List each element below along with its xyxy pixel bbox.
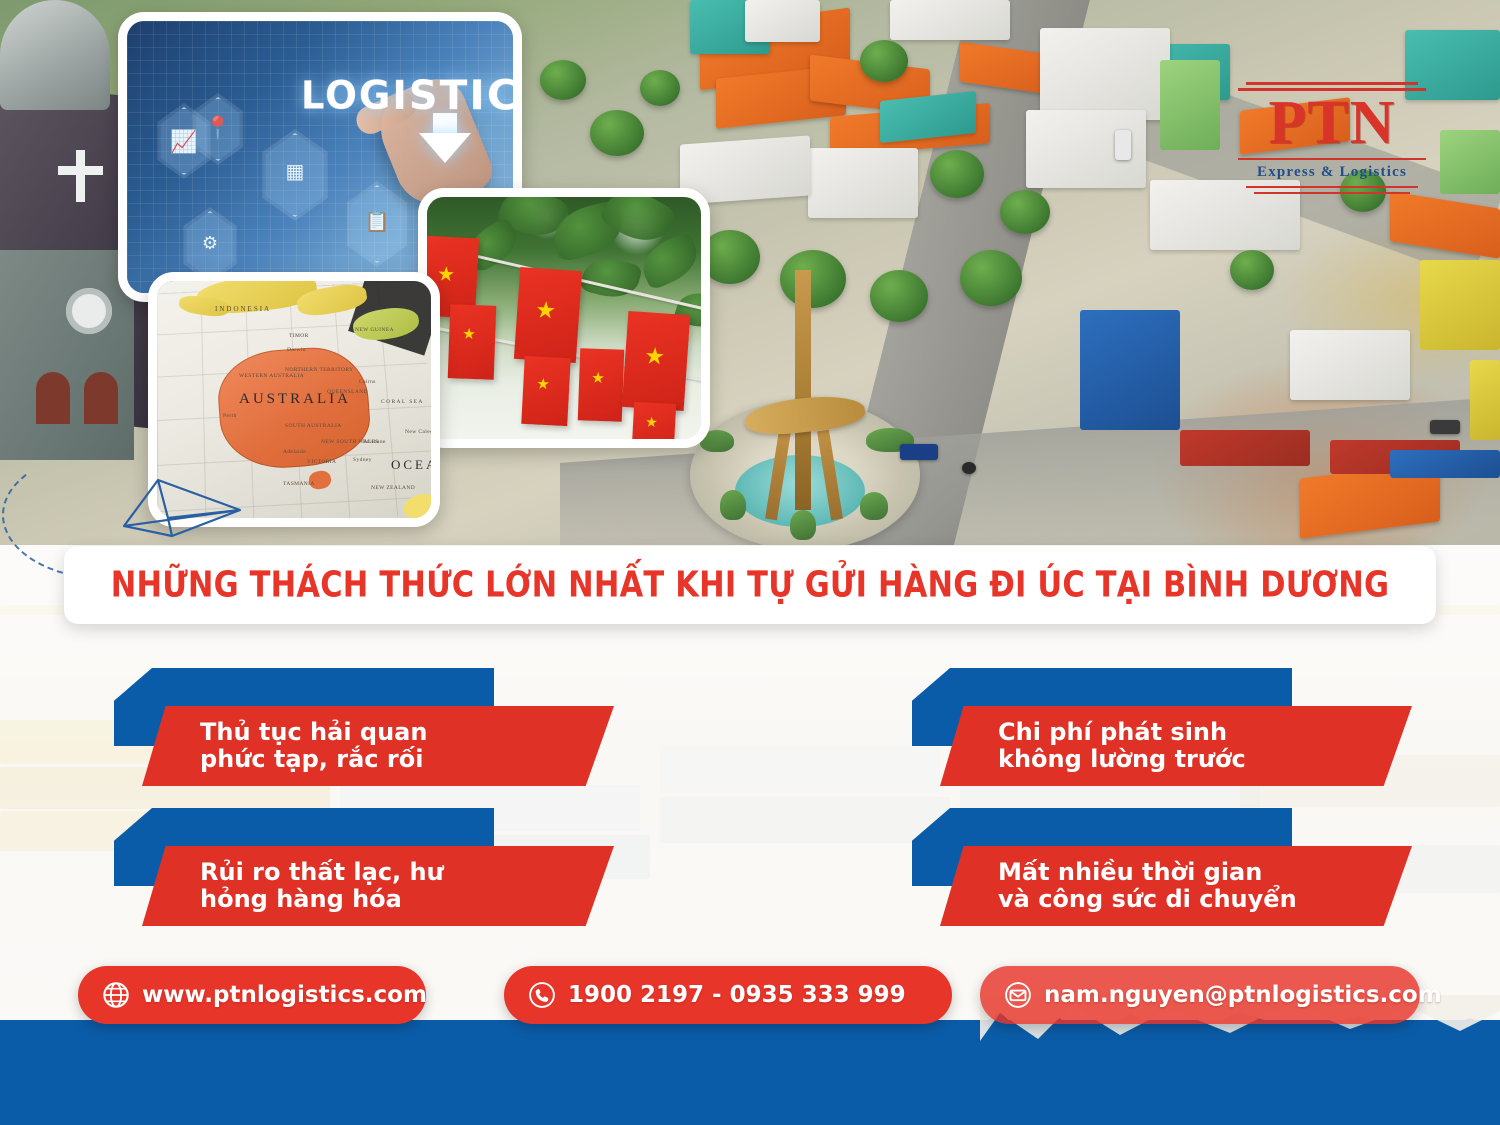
map-label-cairns: Cairns <box>359 379 376 385</box>
contact-email-pill[interactable]: nam.nguyen@ptnlogistics.com <box>980 966 1420 1024</box>
ptn-logo: PTN Express & Logistics <box>1232 78 1432 200</box>
tree <box>860 40 908 82</box>
globe-icon <box>102 981 130 1009</box>
tree <box>780 250 846 308</box>
shrub <box>790 510 816 540</box>
logo-rule-bottom <box>1254 192 1410 194</box>
tree <box>930 150 984 198</box>
banner-red-shape: Chi phí phát sinh không lường trước <box>940 706 1412 786</box>
map-label-darwin: Darwin <box>287 347 306 353</box>
challenge-label: Mất nhiều thời gian và công sức di chuyể… <box>998 859 1297 914</box>
map-label-perth: Perth <box>223 413 237 419</box>
tree <box>590 110 644 156</box>
building-sign <box>1180 430 1310 466</box>
title-bar: NHỮNG THÁCH THỨC LỚN NHẤT KHI TỰ GỬI HÀN… <box>64 546 1436 624</box>
map-label-brisbane: Brisbane <box>363 439 386 445</box>
building-roof <box>1290 330 1410 400</box>
tree <box>1000 190 1050 234</box>
building-roof <box>1040 28 1170 120</box>
logo-rule-top <box>1246 82 1418 85</box>
logo-wordmark: PTN <box>1232 92 1432 154</box>
envelope-icon <box>1004 981 1032 1009</box>
vietnam-flag: ★ <box>521 356 570 426</box>
map-label-indonesia: INDONESIA <box>215 305 271 313</box>
challenge-label: Chi phí phát sinh không lường trước <box>998 719 1246 774</box>
banner-red-shape: Rủi ro thất lạc, hư hỏng hàng hóa <box>142 846 614 926</box>
page-title: NHỮNG THÁCH THỨC LỚN NHẤT KHI TỰ GỬI HÀN… <box>111 564 1389 605</box>
map-label-adelaide: Adelaide <box>283 449 306 455</box>
map-label-png: NEW GUINEA <box>355 327 394 333</box>
car <box>1430 420 1460 434</box>
map-label-qld: QUEENSLAND <box>327 389 368 395</box>
contact-phone-pill[interactable]: 1900 2197 - 0935 333 999 <box>504 966 952 1024</box>
building-roof <box>808 148 918 218</box>
logo-tagline: Express & Logistics <box>1232 164 1432 181</box>
phone-icon <box>528 981 556 1009</box>
download-arrow-icon <box>419 133 471 163</box>
challenge-banner-customs[interactable]: Thủ tục hải quan phức tạp, rắc rối <box>114 668 614 786</box>
map-label-wa: WESTERN AUSTRALIA <box>239 373 304 379</box>
vietnam-flag: ★ <box>578 348 624 421</box>
logistics-photo-caption: LOGISTICS <box>301 72 522 120</box>
tree <box>540 60 586 100</box>
tree <box>1230 250 1274 290</box>
building-roof <box>745 0 820 42</box>
shrub <box>860 492 888 520</box>
building-roof <box>1440 130 1500 194</box>
tree <box>870 270 928 322</box>
logo-rule-mid <box>1238 158 1426 160</box>
tree <box>640 70 680 106</box>
shrub <box>720 490 746 520</box>
challenge-label: Thủ tục hải quan phức tạp, rắc rối <box>200 719 427 774</box>
challenge-banner-damage[interactable]: Rủi ro thất lạc, hư hỏng hàng hóa <box>114 808 614 926</box>
paper-plane-decoration <box>112 470 282 550</box>
vietnam-flag: ★ <box>514 267 582 363</box>
challenge-banner-time[interactable]: Mất nhiều thời gian và công sức di chuyể… <box>912 808 1412 926</box>
vietnam-flag: ★ <box>622 311 691 411</box>
website-text: www.ptnlogistics.com <box>142 982 427 1008</box>
vietnam-flag: ★ <box>632 402 676 448</box>
map-label-timor: TIMOR <box>289 333 309 339</box>
challenge-label: Rủi ro thất lạc, hư hỏng hàng hóa <box>200 859 444 914</box>
building-roof <box>1160 60 1220 150</box>
map-label-coral-sea: CORAL SEA <box>381 399 424 405</box>
map-label-ocean: OCEAN <box>391 457 440 473</box>
email-text: nam.nguyen@ptnlogistics.com <box>1044 982 1442 1008</box>
motorbike <box>962 462 976 474</box>
building-roof <box>1470 360 1500 440</box>
map-label-sa: SOUTH AUSTRALIA <box>285 423 342 429</box>
building-roof <box>890 0 1010 40</box>
phone-text: 1900 2197 - 0935 333 999 <box>568 982 906 1008</box>
infographic-canvas: 📈 📍 ⚙ ▦ 📋 LOGISTICS ★ <box>0 0 1500 1125</box>
banner-red-shape: Mất nhiều thời gian và công sức di chuyể… <box>940 846 1412 926</box>
challenge-banner-cost[interactable]: Chi phí phát sinh không lường trước <box>912 668 1412 786</box>
map-label-tas: TASMANIA <box>283 481 315 487</box>
logo-rule-bottom <box>1246 186 1418 188</box>
map-label-sydney: Sydney <box>353 457 372 463</box>
building-sign <box>1390 450 1500 478</box>
car <box>900 444 938 460</box>
vietnam-flag: ★ <box>448 304 497 380</box>
photo-vietnam-flags: ★ ★ ★ ★ ★ ★ ★ <box>418 188 710 448</box>
contact-website-pill[interactable]: www.ptnlogistics.com <box>78 966 426 1024</box>
car <box>1115 130 1131 160</box>
map-label-caledonia: New Caledonia <box>405 429 440 435</box>
map-label-vic: VICTORIA <box>307 459 336 465</box>
building-roof <box>1420 260 1500 350</box>
tree <box>960 250 1022 306</box>
banner-red-shape: Thủ tục hải quan phức tạp, rắc rối <box>142 706 614 786</box>
map-label-nz: NEW ZEALAND <box>371 485 415 491</box>
monument-column <box>795 270 811 510</box>
building-roof <box>1080 310 1180 430</box>
